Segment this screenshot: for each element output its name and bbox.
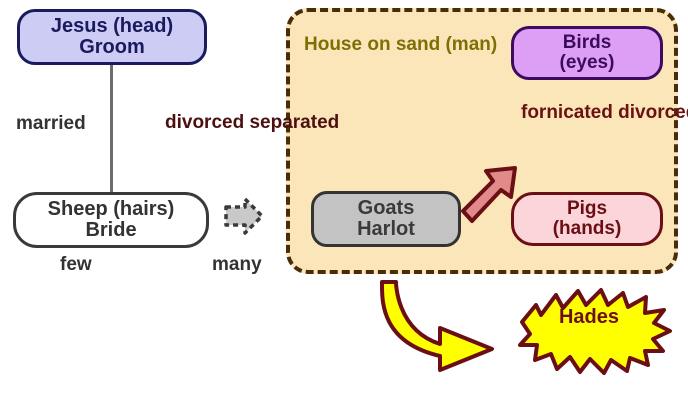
house-on-sand-caption-line1: House on [304, 34, 391, 55]
label-fornicated-line1: fornicated [521, 102, 613, 123]
label-many: many [212, 255, 262, 276]
yellow-curved-arrow-icon [382, 282, 492, 370]
node-goats-harlot[interactable]: Goats Harlot [311, 191, 461, 247]
node-birds-line2: (eyes) [560, 53, 615, 73]
hades-burst-shape[interactable] [520, 290, 670, 373]
node-goats-line1: Goats [358, 198, 415, 219]
node-pigs-line1: Pigs [567, 199, 607, 219]
house-on-sand-caption: House on sand (man) [304, 35, 497, 56]
node-sheep-line1: Sheep (hairs) [48, 199, 175, 220]
many-arrow-icon [226, 199, 262, 233]
node-goats-line2: Harlot [357, 219, 415, 240]
node-birds-eyes[interactable]: Birds (eyes) [511, 26, 663, 80]
label-married: married [16, 114, 86, 135]
label-separated: separated [249, 112, 339, 133]
label-fornicated-line2: divorced [618, 102, 688, 123]
node-sheep-line2: Bride [85, 220, 136, 241]
node-jesus-groom[interactable]: Jesus (head) Groom [17, 9, 207, 65]
node-pigs-hands[interactable]: Pigs (hands) [511, 192, 663, 246]
diagram-canvas: House on sand (man) Jesus (head) Groom S… [0, 0, 688, 412]
node-birds-line1: Birds [563, 33, 612, 53]
node-sheep-bride[interactable]: Sheep (hairs) Bride [13, 192, 209, 248]
label-divorced: divorced [165, 112, 244, 133]
label-hades: Hades [524, 306, 654, 329]
house-on-sand-caption-line2: sand (man) [396, 34, 497, 55]
married-connector-line [110, 64, 113, 194]
label-few: few [60, 255, 92, 276]
node-jesus-line2: Groom [79, 37, 145, 58]
node-jesus-line1: Jesus (head) [51, 16, 173, 37]
label-divorced-separated: divorced separated [165, 113, 339, 134]
node-pigs-line2: (hands) [553, 219, 622, 239]
label-fornicated-divorced-married: fornicated divorced married [521, 103, 688, 124]
